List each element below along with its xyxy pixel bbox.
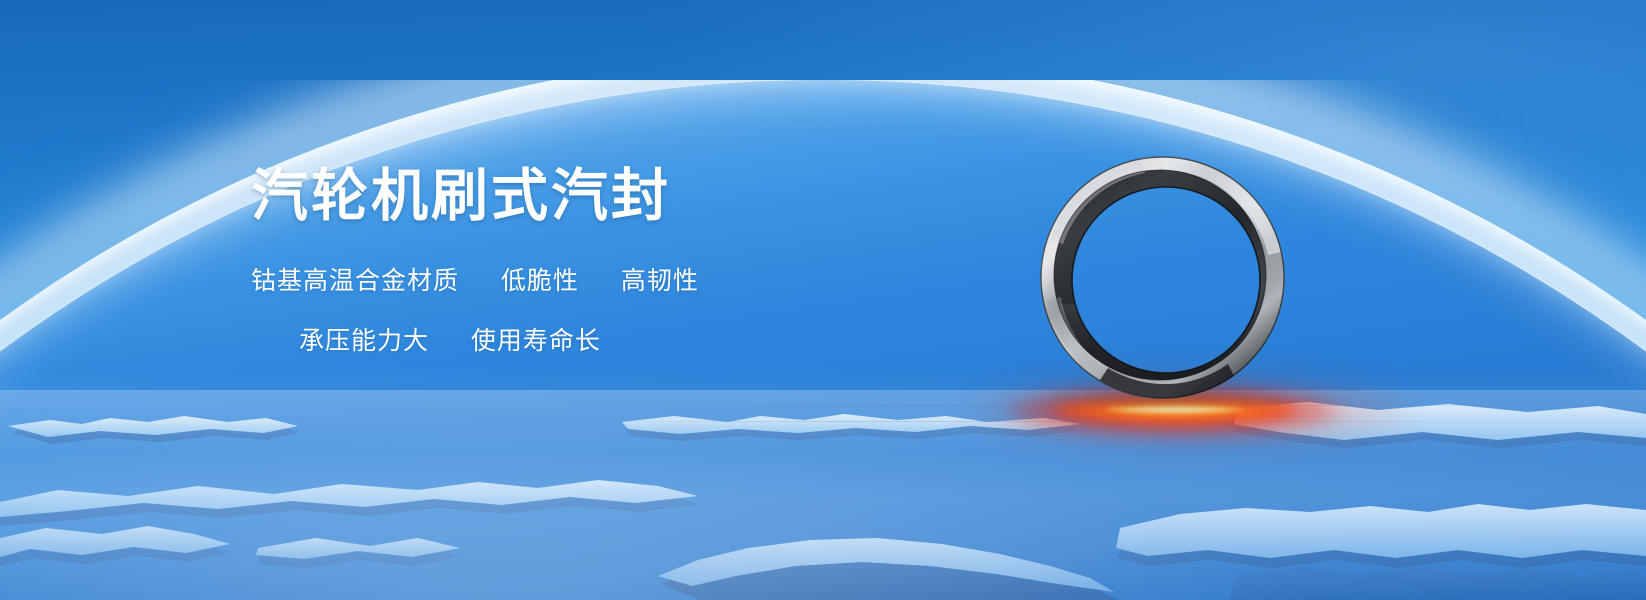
feature-pressure-capacity: 承压能力大: [299, 327, 429, 355]
subtitle-line-2: 承压能力大 使用寿命长: [299, 321, 771, 357]
page-title: 汽轮机刷式汽封: [251, 168, 771, 225]
hero-banner: 汽轮机刷式汽封 钴基高温合金材质 低脆性 高韧性 承压能力大 使用寿命长: [0, 0, 1646, 600]
banner-copy: 汽轮机刷式汽封 钴基高温合金材质 低脆性 高韧性 承压能力大 使用寿命长: [251, 168, 771, 357]
feature-low-brittleness: 低脆性: [501, 267, 579, 295]
feature-high-toughness: 高韧性: [621, 267, 699, 295]
subtitle-line-1: 钴基高温合金材质 低脆性 高韧性: [251, 261, 771, 297]
earth-landmasses: [0, 370, 1646, 600]
feature-material: 钴基高温合金材质: [251, 267, 459, 295]
feature-long-life: 使用寿命长: [471, 327, 601, 355]
